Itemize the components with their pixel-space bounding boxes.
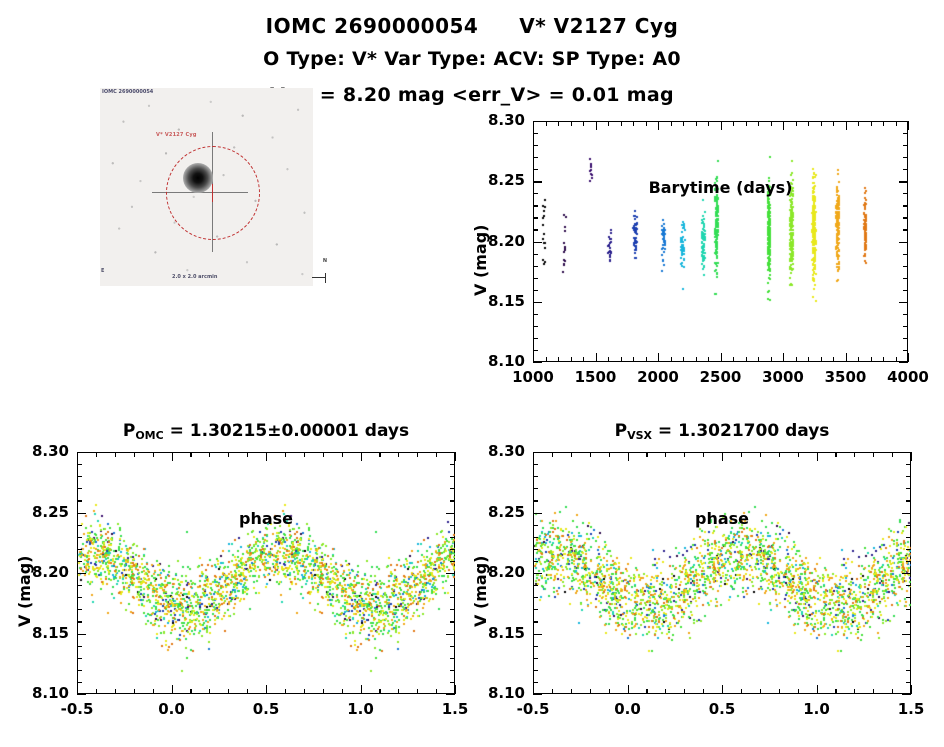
y-tick-major bbox=[902, 452, 911, 453]
y-tick-major bbox=[446, 694, 455, 695]
x-tick-minor bbox=[153, 452, 154, 457]
x-tick-label: 0.5 bbox=[226, 700, 306, 718]
y-tick-minor bbox=[903, 314, 908, 315]
x-tick-minor bbox=[696, 121, 697, 126]
x-tick-minor bbox=[892, 689, 893, 694]
x-tick-minor bbox=[417, 689, 418, 694]
x-tick-minor bbox=[835, 689, 836, 694]
y-tick-minor bbox=[903, 290, 908, 291]
y-tick-major bbox=[533, 121, 542, 122]
x-tick-minor bbox=[609, 452, 610, 457]
y-tick-minor bbox=[533, 205, 538, 206]
x-tick-label: 0.0 bbox=[132, 700, 212, 718]
y-tick-minor bbox=[450, 488, 455, 489]
y-tick-minor bbox=[906, 549, 911, 550]
y-tick-minor bbox=[450, 476, 455, 477]
y-tick-major bbox=[446, 573, 455, 574]
x-tick-label: 1.5 bbox=[415, 700, 495, 718]
y-tick-minor bbox=[533, 621, 538, 622]
x-tick-minor bbox=[833, 121, 834, 126]
y-tick-minor bbox=[903, 169, 908, 170]
y-tick-label: 8.30 bbox=[5, 442, 69, 460]
x-tick-minor bbox=[571, 121, 572, 126]
x-tick-label: 0.5 bbox=[682, 700, 762, 718]
y-tick-minor bbox=[533, 464, 538, 465]
x-tick-major bbox=[628, 685, 629, 694]
period-symbol: P bbox=[123, 421, 135, 441]
y-tick-minor bbox=[450, 464, 455, 465]
x-tick-minor bbox=[798, 452, 799, 457]
x-tick-minor bbox=[323, 689, 324, 694]
x-tick-minor bbox=[115, 689, 116, 694]
x-tick-minor bbox=[134, 689, 135, 694]
x-tick-minor bbox=[779, 452, 780, 457]
x-tick-minor bbox=[96, 452, 97, 457]
x-tick-minor bbox=[683, 121, 684, 126]
y-tick-major bbox=[533, 694, 542, 695]
x-tick-minor bbox=[741, 452, 742, 457]
y-tick-label: 8.15 bbox=[461, 624, 525, 642]
y-tick-major bbox=[77, 634, 86, 635]
y-tick-major bbox=[902, 573, 911, 574]
x-tick-minor bbox=[854, 452, 855, 457]
x-tick-major bbox=[77, 685, 78, 694]
x-tick-minor bbox=[858, 121, 859, 126]
y-tick-minor bbox=[533, 314, 538, 315]
y-tick-minor bbox=[903, 338, 908, 339]
x-tick-minor bbox=[683, 357, 684, 362]
x-tick-minor bbox=[896, 357, 897, 362]
x-tick-minor bbox=[746, 357, 747, 362]
y-tick-major bbox=[899, 302, 908, 303]
y-tick-label: 8.20 bbox=[461, 232, 525, 250]
y-tick-minor bbox=[903, 229, 908, 230]
y-tick-major bbox=[533, 634, 542, 635]
y-tick-minor bbox=[533, 229, 538, 230]
x-tick-minor bbox=[247, 452, 248, 457]
x-tick-major bbox=[533, 685, 534, 694]
y-tick-label: 8.10 bbox=[461, 684, 525, 702]
x-tick-minor bbox=[733, 357, 734, 362]
x-tick-minor bbox=[883, 357, 884, 362]
x-tick-minor bbox=[746, 121, 747, 126]
x-tick-minor bbox=[684, 689, 685, 694]
x-tick-minor bbox=[190, 452, 191, 457]
page-title: IOMC 2690000054 V* V2127 Cyg bbox=[0, 14, 944, 38]
y-tick-minor bbox=[906, 561, 911, 562]
y-tick-label: 8.10 bbox=[461, 352, 525, 370]
x-tick-minor bbox=[646, 357, 647, 362]
x-tick-major bbox=[722, 685, 723, 694]
phase-vsx-title: PVSX = 1.3021700 days bbox=[533, 421, 911, 442]
x-tick-minor bbox=[796, 357, 797, 362]
y-tick-major bbox=[902, 694, 911, 695]
y-tick-major bbox=[77, 694, 86, 695]
y-tick-minor bbox=[77, 537, 82, 538]
x-tick-minor bbox=[571, 689, 572, 694]
y-tick-major bbox=[446, 513, 455, 514]
y-tick-minor bbox=[906, 597, 911, 598]
dss-finding-chart: IOMC 2690000054 V* V2127 Cyg 2.0 x 2.0 a… bbox=[100, 88, 313, 286]
y-tick-minor bbox=[533, 193, 538, 194]
x-tick-minor bbox=[134, 452, 135, 457]
x-tick-label: 1.5 bbox=[871, 700, 944, 718]
y-tick-minor bbox=[903, 133, 908, 134]
x-tick-minor bbox=[646, 121, 647, 126]
x-tick-minor bbox=[558, 357, 559, 362]
x-tick-minor bbox=[703, 452, 704, 457]
x-tick-minor bbox=[671, 357, 672, 362]
y-tick-label: 8.20 bbox=[5, 563, 69, 581]
x-tick-major bbox=[817, 685, 818, 694]
x-tick-major bbox=[628, 452, 629, 461]
lightcurve-time-points bbox=[533, 121, 908, 362]
x-tick-minor bbox=[285, 689, 286, 694]
y-tick-major bbox=[899, 242, 908, 243]
period-value-text: = 1.3021700 days bbox=[652, 421, 829, 441]
x-tick-minor bbox=[285, 452, 286, 457]
y-tick-minor bbox=[533, 597, 538, 598]
y-tick-minor bbox=[906, 500, 911, 501]
finding-chart-corner-label: IOMC 2690000054 bbox=[102, 89, 153, 95]
x-tick-minor bbox=[896, 121, 897, 126]
y-tick-minor bbox=[533, 682, 538, 683]
y-tick-minor bbox=[906, 621, 911, 622]
title-star-name: V* V2127 Cyg bbox=[519, 14, 678, 38]
y-tick-minor bbox=[906, 464, 911, 465]
y-tick-minor bbox=[533, 278, 538, 279]
x-axis-label: phase bbox=[533, 509, 911, 528]
x-tick-major bbox=[846, 353, 847, 362]
x-tick-minor bbox=[342, 452, 343, 457]
y-tick-minor bbox=[77, 549, 82, 550]
x-tick-minor bbox=[379, 452, 380, 457]
y-tick-label: 8.15 bbox=[461, 292, 525, 310]
x-tick-minor bbox=[808, 121, 809, 126]
x-tick-minor bbox=[665, 689, 666, 694]
x-tick-minor bbox=[398, 689, 399, 694]
y-tick-minor bbox=[77, 500, 82, 501]
x-tick-minor bbox=[858, 357, 859, 362]
x-tick-label: 4000 bbox=[868, 368, 944, 386]
x-tick-minor bbox=[247, 689, 248, 694]
x-tick-minor bbox=[760, 689, 761, 694]
y-tick-minor bbox=[903, 278, 908, 279]
x-tick-minor bbox=[546, 357, 547, 362]
x-tick-minor bbox=[115, 452, 116, 457]
y-tick-minor bbox=[450, 549, 455, 550]
x-tick-major bbox=[908, 121, 909, 130]
y-tick-minor bbox=[533, 609, 538, 610]
x-tick-minor bbox=[671, 121, 672, 126]
x-tick-label: 1.0 bbox=[777, 700, 857, 718]
x-tick-minor bbox=[621, 357, 622, 362]
y-tick-minor bbox=[77, 561, 82, 562]
y-tick-minor bbox=[77, 585, 82, 586]
x-tick-minor bbox=[733, 121, 734, 126]
y-tick-major bbox=[533, 362, 542, 363]
x-tick-minor bbox=[873, 452, 874, 457]
x-tick-major bbox=[266, 452, 267, 461]
x-tick-major bbox=[658, 353, 659, 362]
y-tick-minor bbox=[77, 658, 82, 659]
x-tick-major bbox=[721, 353, 722, 362]
x-tick-minor bbox=[323, 452, 324, 457]
target-crosshair bbox=[212, 184, 213, 202]
scale-bar-tick bbox=[325, 273, 326, 283]
period-value-text: = 1.30215±0.00001 days bbox=[164, 421, 409, 441]
x-tick-minor bbox=[771, 357, 772, 362]
x-tick-minor bbox=[304, 689, 305, 694]
y-tick-label: 8.25 bbox=[461, 503, 525, 521]
x-tick-minor bbox=[571, 452, 572, 457]
y-tick-minor bbox=[450, 585, 455, 586]
x-tick-major bbox=[172, 452, 173, 461]
y-tick-minor bbox=[906, 609, 911, 610]
y-tick-label: 8.25 bbox=[5, 503, 69, 521]
y-tick-minor bbox=[533, 266, 538, 267]
north-indicator: N bbox=[323, 258, 327, 264]
y-tick-minor bbox=[450, 646, 455, 647]
y-tick-minor bbox=[77, 488, 82, 489]
x-tick-minor bbox=[417, 452, 418, 457]
x-tick-minor bbox=[436, 689, 437, 694]
y-tick-minor bbox=[903, 350, 908, 351]
x-tick-major bbox=[455, 685, 456, 694]
x-tick-major bbox=[817, 452, 818, 461]
x-tick-minor bbox=[228, 452, 229, 457]
x-tick-label: 0.0 bbox=[588, 700, 668, 718]
y-tick-minor bbox=[77, 525, 82, 526]
x-tick-minor bbox=[708, 357, 709, 362]
y-tick-minor bbox=[903, 254, 908, 255]
x-tick-minor bbox=[590, 452, 591, 457]
x-tick-major bbox=[911, 452, 912, 461]
y-tick-minor bbox=[533, 500, 538, 501]
x-tick-minor bbox=[696, 357, 697, 362]
period-subscript: OMC bbox=[135, 429, 163, 442]
x-tick-minor bbox=[854, 689, 855, 694]
x-tick-minor bbox=[304, 452, 305, 457]
y-tick-minor bbox=[533, 476, 538, 477]
x-tick-major bbox=[533, 353, 534, 362]
x-tick-major bbox=[266, 685, 267, 694]
y-tick-minor bbox=[906, 488, 911, 489]
x-tick-minor bbox=[552, 689, 553, 694]
x-tick-minor bbox=[871, 357, 872, 362]
title-iomc-id: IOMC 2690000054 bbox=[266, 14, 479, 38]
y-tick-minor bbox=[906, 646, 911, 647]
y-tick-minor bbox=[450, 537, 455, 538]
y-tick-major bbox=[902, 634, 911, 635]
x-tick-major bbox=[783, 353, 784, 362]
y-tick-major bbox=[533, 181, 542, 182]
x-tick-minor bbox=[398, 452, 399, 457]
y-tick-minor bbox=[903, 266, 908, 267]
x-tick-minor bbox=[833, 357, 834, 362]
x-tick-minor bbox=[190, 689, 191, 694]
object-types-line: O Type: V* Var Type: ACV: SP Type: A0 bbox=[0, 48, 944, 70]
x-tick-minor bbox=[871, 121, 872, 126]
x-tick-minor bbox=[758, 357, 759, 362]
y-tick-major bbox=[533, 513, 542, 514]
y-tick-minor bbox=[450, 621, 455, 622]
finding-chart-scale-label: 2.0 x 2.0 arcmin bbox=[172, 274, 217, 280]
y-tick-minor bbox=[533, 338, 538, 339]
phase-omc-points bbox=[77, 452, 455, 694]
x-tick-major bbox=[596, 353, 597, 362]
x-tick-label: -0.5 bbox=[493, 700, 573, 718]
x-tick-minor bbox=[646, 689, 647, 694]
x-tick-minor bbox=[741, 689, 742, 694]
y-tick-minor bbox=[450, 525, 455, 526]
y-tick-minor bbox=[450, 658, 455, 659]
y-tick-minor bbox=[533, 488, 538, 489]
y-tick-major bbox=[77, 513, 86, 514]
x-tick-minor bbox=[821, 121, 822, 126]
x-tick-minor bbox=[633, 357, 634, 362]
x-tick-minor bbox=[571, 357, 572, 362]
x-tick-major bbox=[455, 452, 456, 461]
y-tick-minor bbox=[450, 682, 455, 683]
y-tick-major bbox=[899, 181, 908, 182]
x-tick-major bbox=[721, 121, 722, 130]
y-tick-minor bbox=[77, 646, 82, 647]
x-tick-minor bbox=[892, 452, 893, 457]
y-tick-minor bbox=[533, 169, 538, 170]
x-tick-minor bbox=[546, 121, 547, 126]
x-tick-minor bbox=[760, 452, 761, 457]
y-tick-major bbox=[446, 634, 455, 635]
y-tick-minor bbox=[77, 476, 82, 477]
y-tick-minor bbox=[533, 326, 538, 327]
phase-omc-title: POMC = 1.30215±0.00001 days bbox=[77, 421, 455, 442]
y-tick-minor bbox=[533, 549, 538, 550]
y-tick-minor bbox=[77, 621, 82, 622]
x-tick-minor bbox=[228, 689, 229, 694]
x-tick-minor bbox=[771, 121, 772, 126]
x-tick-major bbox=[911, 685, 912, 694]
y-tick-minor bbox=[903, 326, 908, 327]
y-tick-label: 8.15 bbox=[5, 624, 69, 642]
x-tick-major bbox=[361, 452, 362, 461]
x-tick-major bbox=[783, 121, 784, 130]
y-tick-major bbox=[902, 513, 911, 514]
y-tick-minor bbox=[533, 561, 538, 562]
y-tick-major bbox=[446, 452, 455, 453]
y-tick-minor bbox=[77, 670, 82, 671]
period-subscript: VSX bbox=[627, 429, 652, 442]
x-tick-minor bbox=[633, 121, 634, 126]
x-tick-minor bbox=[703, 689, 704, 694]
y-tick-minor bbox=[903, 157, 908, 158]
x-tick-major bbox=[658, 121, 659, 130]
x-tick-minor bbox=[684, 452, 685, 457]
finding-chart-east-label: E bbox=[101, 268, 104, 274]
y-tick-minor bbox=[77, 609, 82, 610]
y-tick-minor bbox=[906, 525, 911, 526]
x-tick-minor bbox=[608, 357, 609, 362]
x-tick-minor bbox=[209, 689, 210, 694]
x-tick-minor bbox=[708, 121, 709, 126]
x-tick-minor bbox=[621, 121, 622, 126]
finding-chart-image: IOMC 2690000054 V* V2127 Cyg 2.0 x 2.0 a… bbox=[100, 88, 313, 286]
y-tick-minor bbox=[77, 682, 82, 683]
y-tick-major bbox=[533, 452, 542, 453]
y-tick-minor bbox=[903, 145, 908, 146]
y-tick-minor bbox=[906, 670, 911, 671]
x-tick-minor bbox=[96, 689, 97, 694]
y-tick-minor bbox=[450, 561, 455, 562]
x-tick-minor bbox=[436, 452, 437, 457]
x-tick-minor bbox=[342, 689, 343, 694]
y-tick-minor bbox=[533, 157, 538, 158]
x-tick-major bbox=[172, 685, 173, 694]
x-tick-minor bbox=[583, 357, 584, 362]
y-tick-minor bbox=[450, 597, 455, 598]
x-tick-major bbox=[722, 452, 723, 461]
phase-vsx-points bbox=[533, 452, 911, 694]
x-tick-major bbox=[846, 121, 847, 130]
x-tick-minor bbox=[153, 689, 154, 694]
x-tick-minor bbox=[883, 121, 884, 126]
y-tick-label: 8.20 bbox=[461, 563, 525, 581]
x-tick-minor bbox=[796, 121, 797, 126]
y-tick-minor bbox=[903, 205, 908, 206]
y-tick-major bbox=[899, 362, 908, 363]
y-tick-minor bbox=[533, 525, 538, 526]
x-tick-major bbox=[596, 121, 597, 130]
target-marker-circle bbox=[166, 146, 260, 240]
y-tick-minor bbox=[533, 658, 538, 659]
y-tick-minor bbox=[906, 476, 911, 477]
y-tick-minor bbox=[533, 217, 538, 218]
x-tick-minor bbox=[758, 121, 759, 126]
x-tick-minor bbox=[646, 452, 647, 457]
x-tick-minor bbox=[590, 689, 591, 694]
x-tick-minor bbox=[608, 121, 609, 126]
y-tick-minor bbox=[77, 597, 82, 598]
y-tick-minor bbox=[533, 646, 538, 647]
y-tick-minor bbox=[533, 145, 538, 146]
y-tick-minor bbox=[450, 609, 455, 610]
y-tick-minor bbox=[903, 217, 908, 218]
x-tick-label: -0.5 bbox=[37, 700, 117, 718]
x-tick-minor bbox=[821, 357, 822, 362]
x-tick-minor bbox=[779, 689, 780, 694]
y-tick-major bbox=[77, 452, 86, 453]
y-tick-label: 8.25 bbox=[461, 171, 525, 189]
x-tick-minor bbox=[209, 452, 210, 457]
scale-bar bbox=[312, 277, 326, 278]
x-tick-minor bbox=[798, 689, 799, 694]
x-tick-minor bbox=[835, 452, 836, 457]
x-axis-label: Barytime (days) bbox=[533, 178, 908, 197]
x-tick-minor bbox=[873, 689, 874, 694]
y-tick-major bbox=[899, 121, 908, 122]
y-tick-minor bbox=[906, 658, 911, 659]
x-axis-label: phase bbox=[77, 509, 455, 528]
y-tick-minor bbox=[906, 537, 911, 538]
period-symbol: P bbox=[615, 421, 627, 441]
y-tick-minor bbox=[450, 500, 455, 501]
x-tick-minor bbox=[558, 121, 559, 126]
x-tick-minor bbox=[665, 452, 666, 457]
x-tick-major bbox=[361, 685, 362, 694]
x-tick-minor bbox=[808, 357, 809, 362]
y-tick-minor bbox=[450, 670, 455, 671]
y-tick-major bbox=[533, 242, 542, 243]
